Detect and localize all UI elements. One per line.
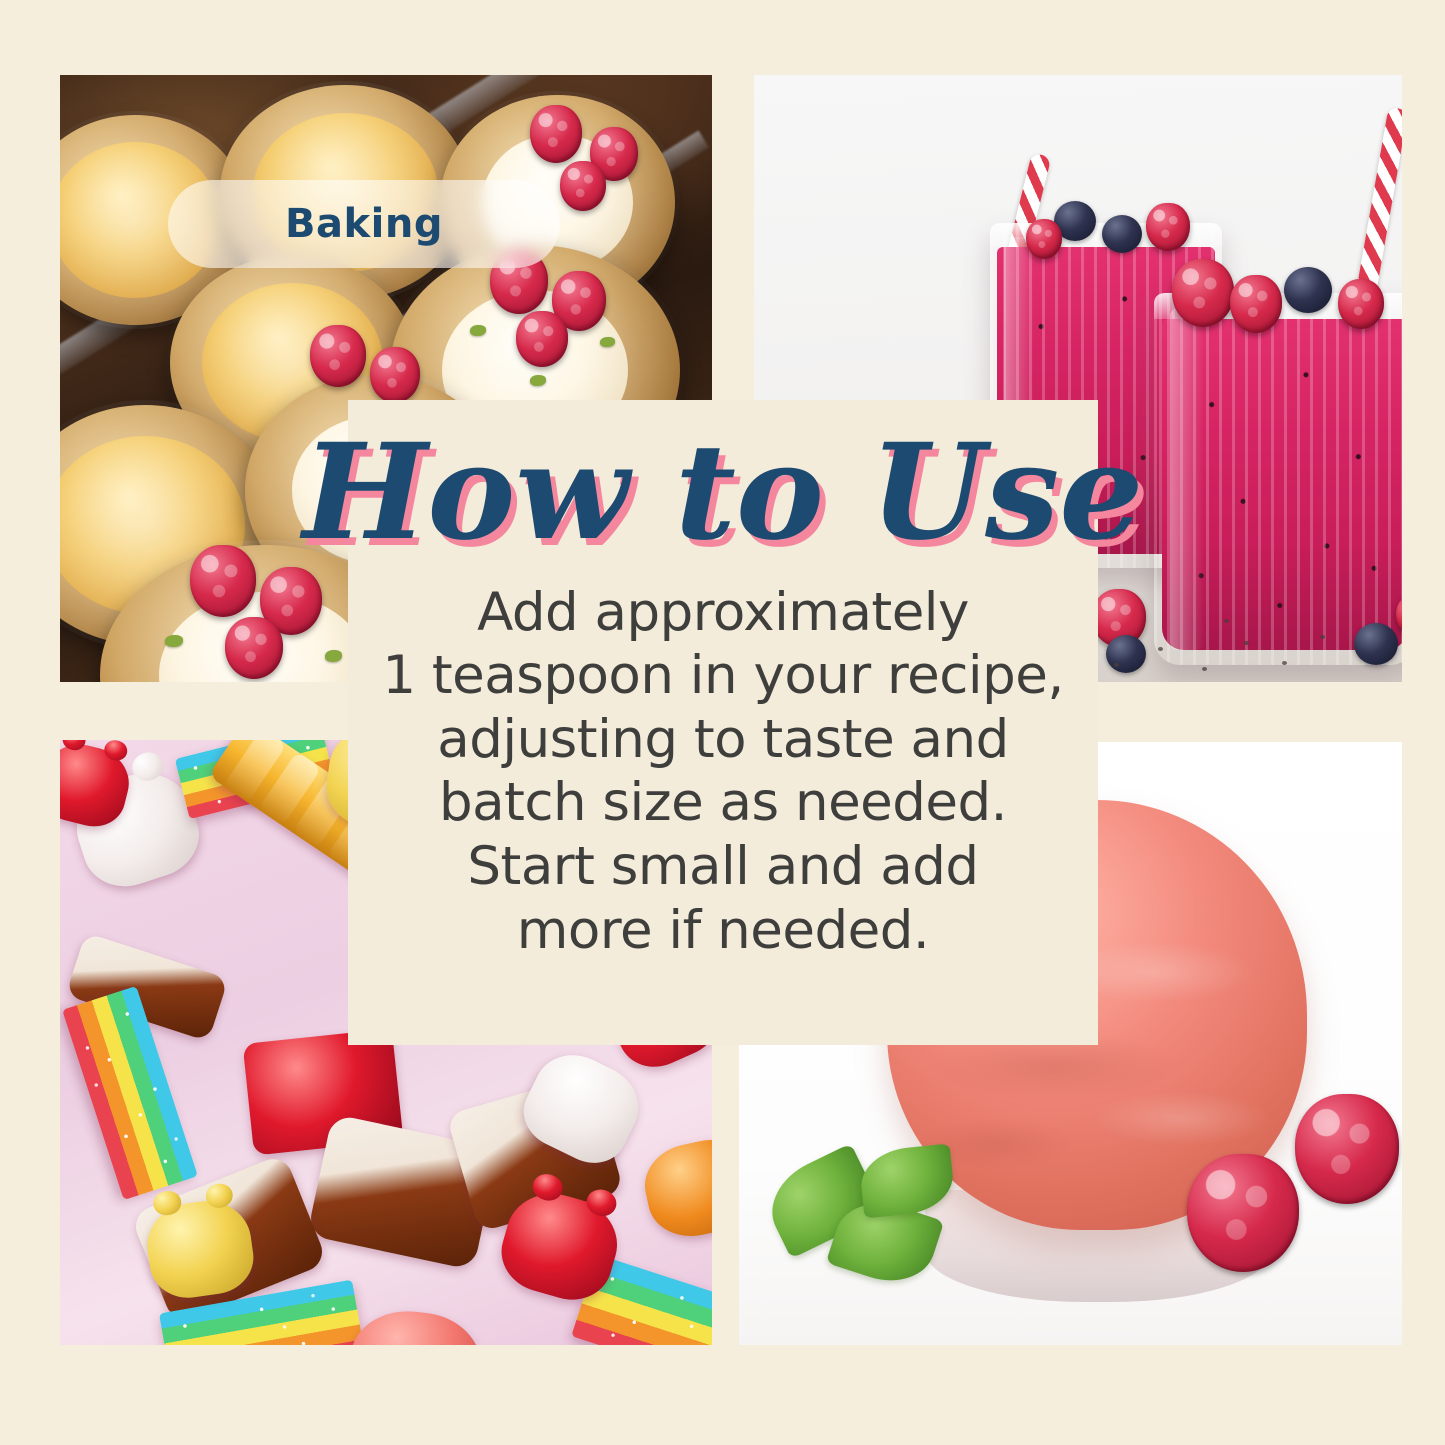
how-to-use-title: How to Use (303, 426, 1144, 561)
poster-canvas: Baking (0, 0, 1445, 1445)
how-to-use-body: Add approximately 1 teaspoon in your rec… (364, 581, 1081, 963)
category-pill-baking[interactable]: Baking (168, 180, 560, 268)
category-label-baking: Baking (285, 201, 443, 247)
how-to-use-card: How to Use Add approximately 1 teaspoon … (348, 400, 1098, 1045)
